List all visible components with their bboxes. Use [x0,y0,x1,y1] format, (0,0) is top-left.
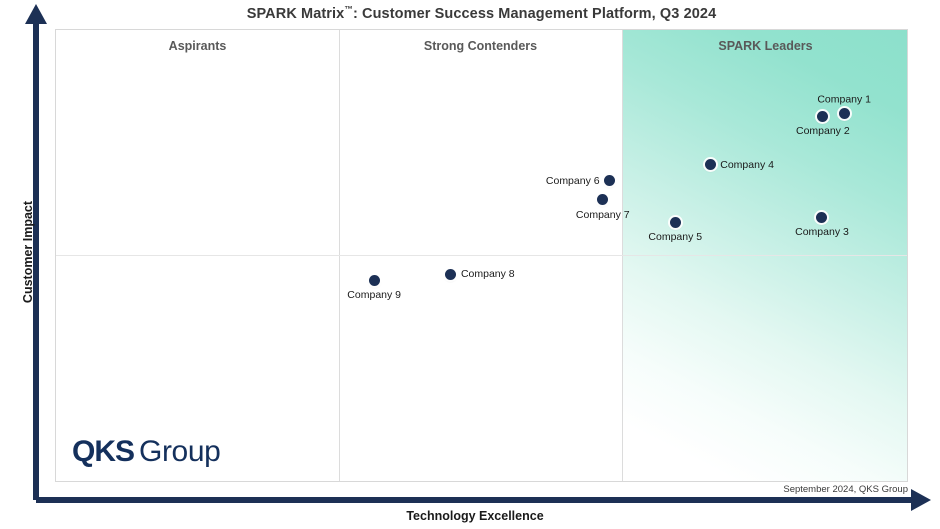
logo-mark-text: QKS [72,435,134,468]
plot-area: Aspirants Strong Contenders SPARK Leader… [55,29,908,482]
band-divider-aspirants [339,30,340,482]
band-label-strong-contenders: Strong Contenders [339,39,622,53]
data-point-6[interactable] [604,175,615,186]
data-point-label-1: Company 1 [817,94,871,105]
data-point-8[interactable] [445,269,456,280]
data-point-5[interactable] [670,217,681,228]
logo-word-text: Group [139,435,220,468]
x-axis-label: Technology Excellence [36,509,914,523]
data-point-9[interactable] [369,275,380,286]
y-axis-arrow-icon [25,4,47,24]
data-point-label-9: Company 9 [347,290,401,301]
band-divider-leaders [622,30,623,482]
data-point-label-7: Company 7 [576,210,630,221]
data-point-label-8: Company 8 [461,269,515,280]
data-point-label-2: Company 2 [796,126,850,137]
data-point-7[interactable] [597,194,608,205]
band-label-aspirants: Aspirants [56,39,339,53]
spark-matrix-chart: SPARK Matrix™: Customer Success Manageme… [0,0,940,529]
chart-title-main: SPARK Matrix [247,6,345,22]
trademark-symbol: ™ [344,4,353,14]
data-point-label-6: Company 6 [546,176,600,187]
x-axis-line [36,497,914,503]
source-note: September 2024, QKS Group [688,484,908,495]
data-point-1[interactable] [839,108,850,119]
y-axis-label: Customer Impact [21,172,35,332]
qks-group-logo: QKSGroup [72,435,220,469]
x-axis-arrow-icon [911,489,931,511]
chart-title-rest: : Customer Success Management Platform, … [353,6,716,22]
chart-title: SPARK Matrix™: Customer Success Manageme… [55,4,908,22]
data-point-label-5: Company 5 [648,232,702,243]
data-point-2[interactable] [817,111,828,122]
data-point-label-4: Company 4 [720,160,774,171]
horizontal-gridline [56,255,908,256]
band-label-spark-leaders: SPARK Leaders [622,39,908,53]
data-point-label-3: Company 3 [795,227,849,238]
